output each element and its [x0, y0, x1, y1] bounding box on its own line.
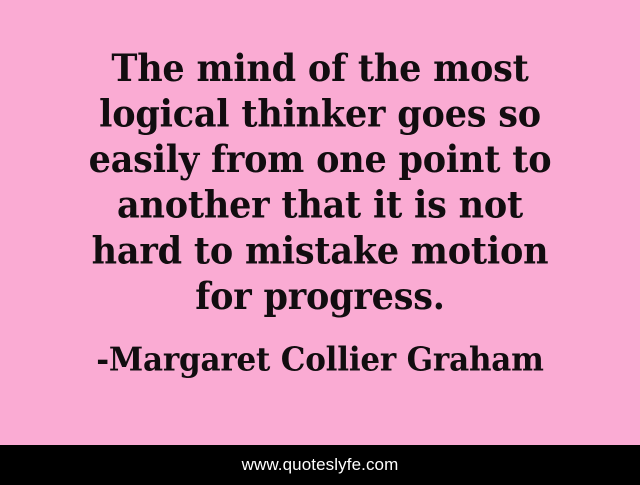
author-attribution: -Margaret Collier Graham	[66, 342, 574, 378]
quote-line: The mind of the most	[66, 46, 574, 92]
quote-card: The mind of the most logical thinker goe…	[0, 0, 640, 485]
quote-line: easily from one point to	[66, 137, 574, 183]
quote-line: logical thinker goes so	[66, 92, 574, 138]
website-url-label: www.quoteslyfe.com	[242, 455, 399, 475]
quote-line: hard to mistake motion	[66, 228, 574, 274]
author-name: -Margaret Collier Graham	[96, 341, 544, 379]
quote-text: The mind of the most logical thinker goe…	[66, 46, 574, 319]
quote-line: another that it is not	[66, 183, 574, 229]
quote-content-area: The mind of the most logical thinker goe…	[0, 0, 640, 445]
footer-bar: www.quoteslyfe.com	[0, 445, 640, 485]
quote-line: for progress.	[66, 274, 574, 320]
